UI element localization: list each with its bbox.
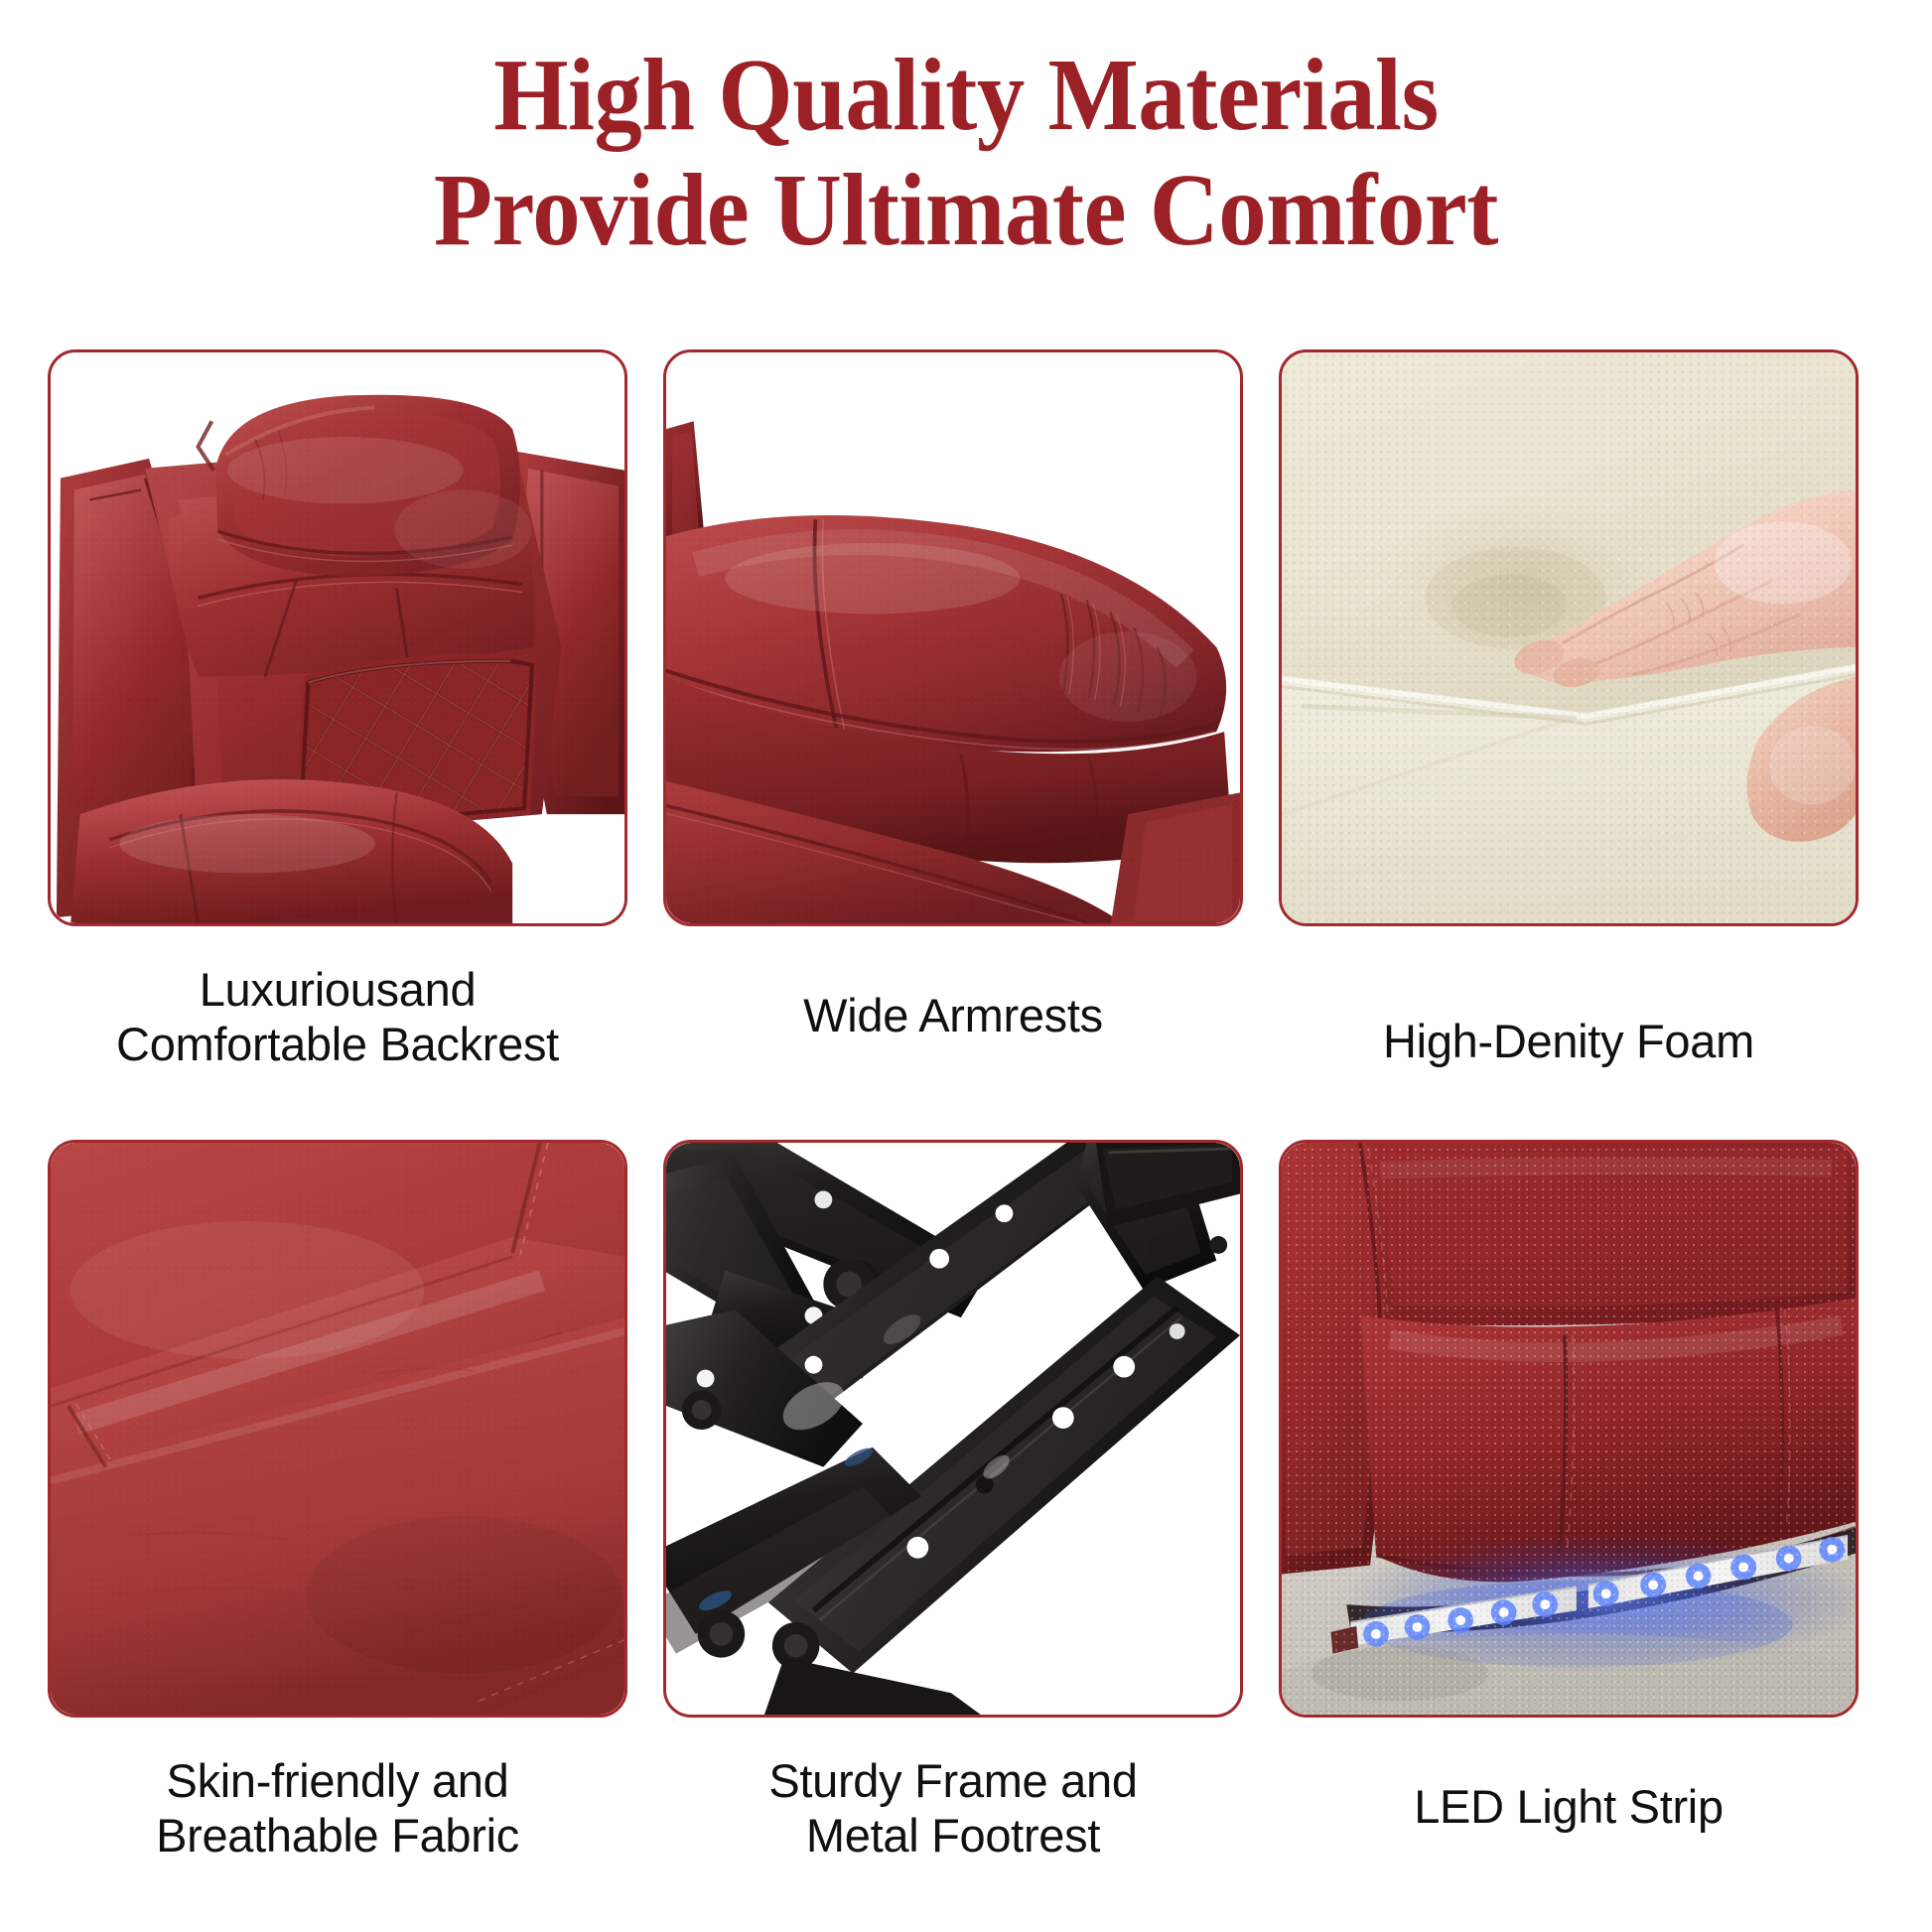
recliner-backrest-image [51,352,624,923]
wide-armrest-image [666,352,1240,923]
infographic-page: High Quality Materials Provide Ultimate … [0,0,1932,1932]
caption-line: Comfortable Backrest [48,1017,627,1071]
feature-card-foam[interactable] [1279,349,1859,926]
page-title-line-2: Provide Ultimate Comfort [68,153,1864,268]
caption-line: Skin-friendly and [48,1753,627,1808]
caption-line: Wide Armrests [663,988,1243,1042]
caption-armrest: Wide Armrests [663,926,1243,1140]
caption-fabric: Skin-friendly and Breathable Fabric [48,1718,627,1932]
metal-footrest-frame-image [666,1143,1240,1715]
page-title: High Quality Materials Provide Ultimate … [68,0,1864,269]
feature-grid: Luxuriousand Comfortable Backrest Wide A… [48,349,1874,1932]
feature-card-frame[interactable] [663,1140,1243,1718]
skin-friendly-fabric-image [51,1143,624,1715]
feature-card-fabric[interactable] [48,1140,627,1718]
caption-led: LED Light Strip [1279,1718,1859,1932]
high-density-foam-image [1282,352,1856,923]
caption-line: Luxuriousand [48,962,627,1017]
caption-line: High-Denity Foam [1279,1014,1859,1068]
caption-line: LED Light Strip [1279,1779,1859,1834]
caption-line: Sturdy Frame and [663,1753,1243,1808]
caption-foam: High-Denity Foam [1279,926,1859,1140]
led-light-strip-image [1282,1143,1856,1715]
page-title-line-1: High Quality Materials [68,38,1864,153]
caption-backrest: Luxuriousand Comfortable Backrest [48,926,627,1140]
feature-card-led[interactable] [1279,1140,1859,1718]
feature-card-backrest[interactable] [48,349,627,926]
caption-frame: Sturdy Frame and Metal Footrest [663,1718,1243,1932]
feature-card-armrest[interactable] [663,349,1243,926]
caption-line: Metal Footrest [663,1808,1243,1863]
caption-line: Breathable Fabric [48,1808,627,1863]
